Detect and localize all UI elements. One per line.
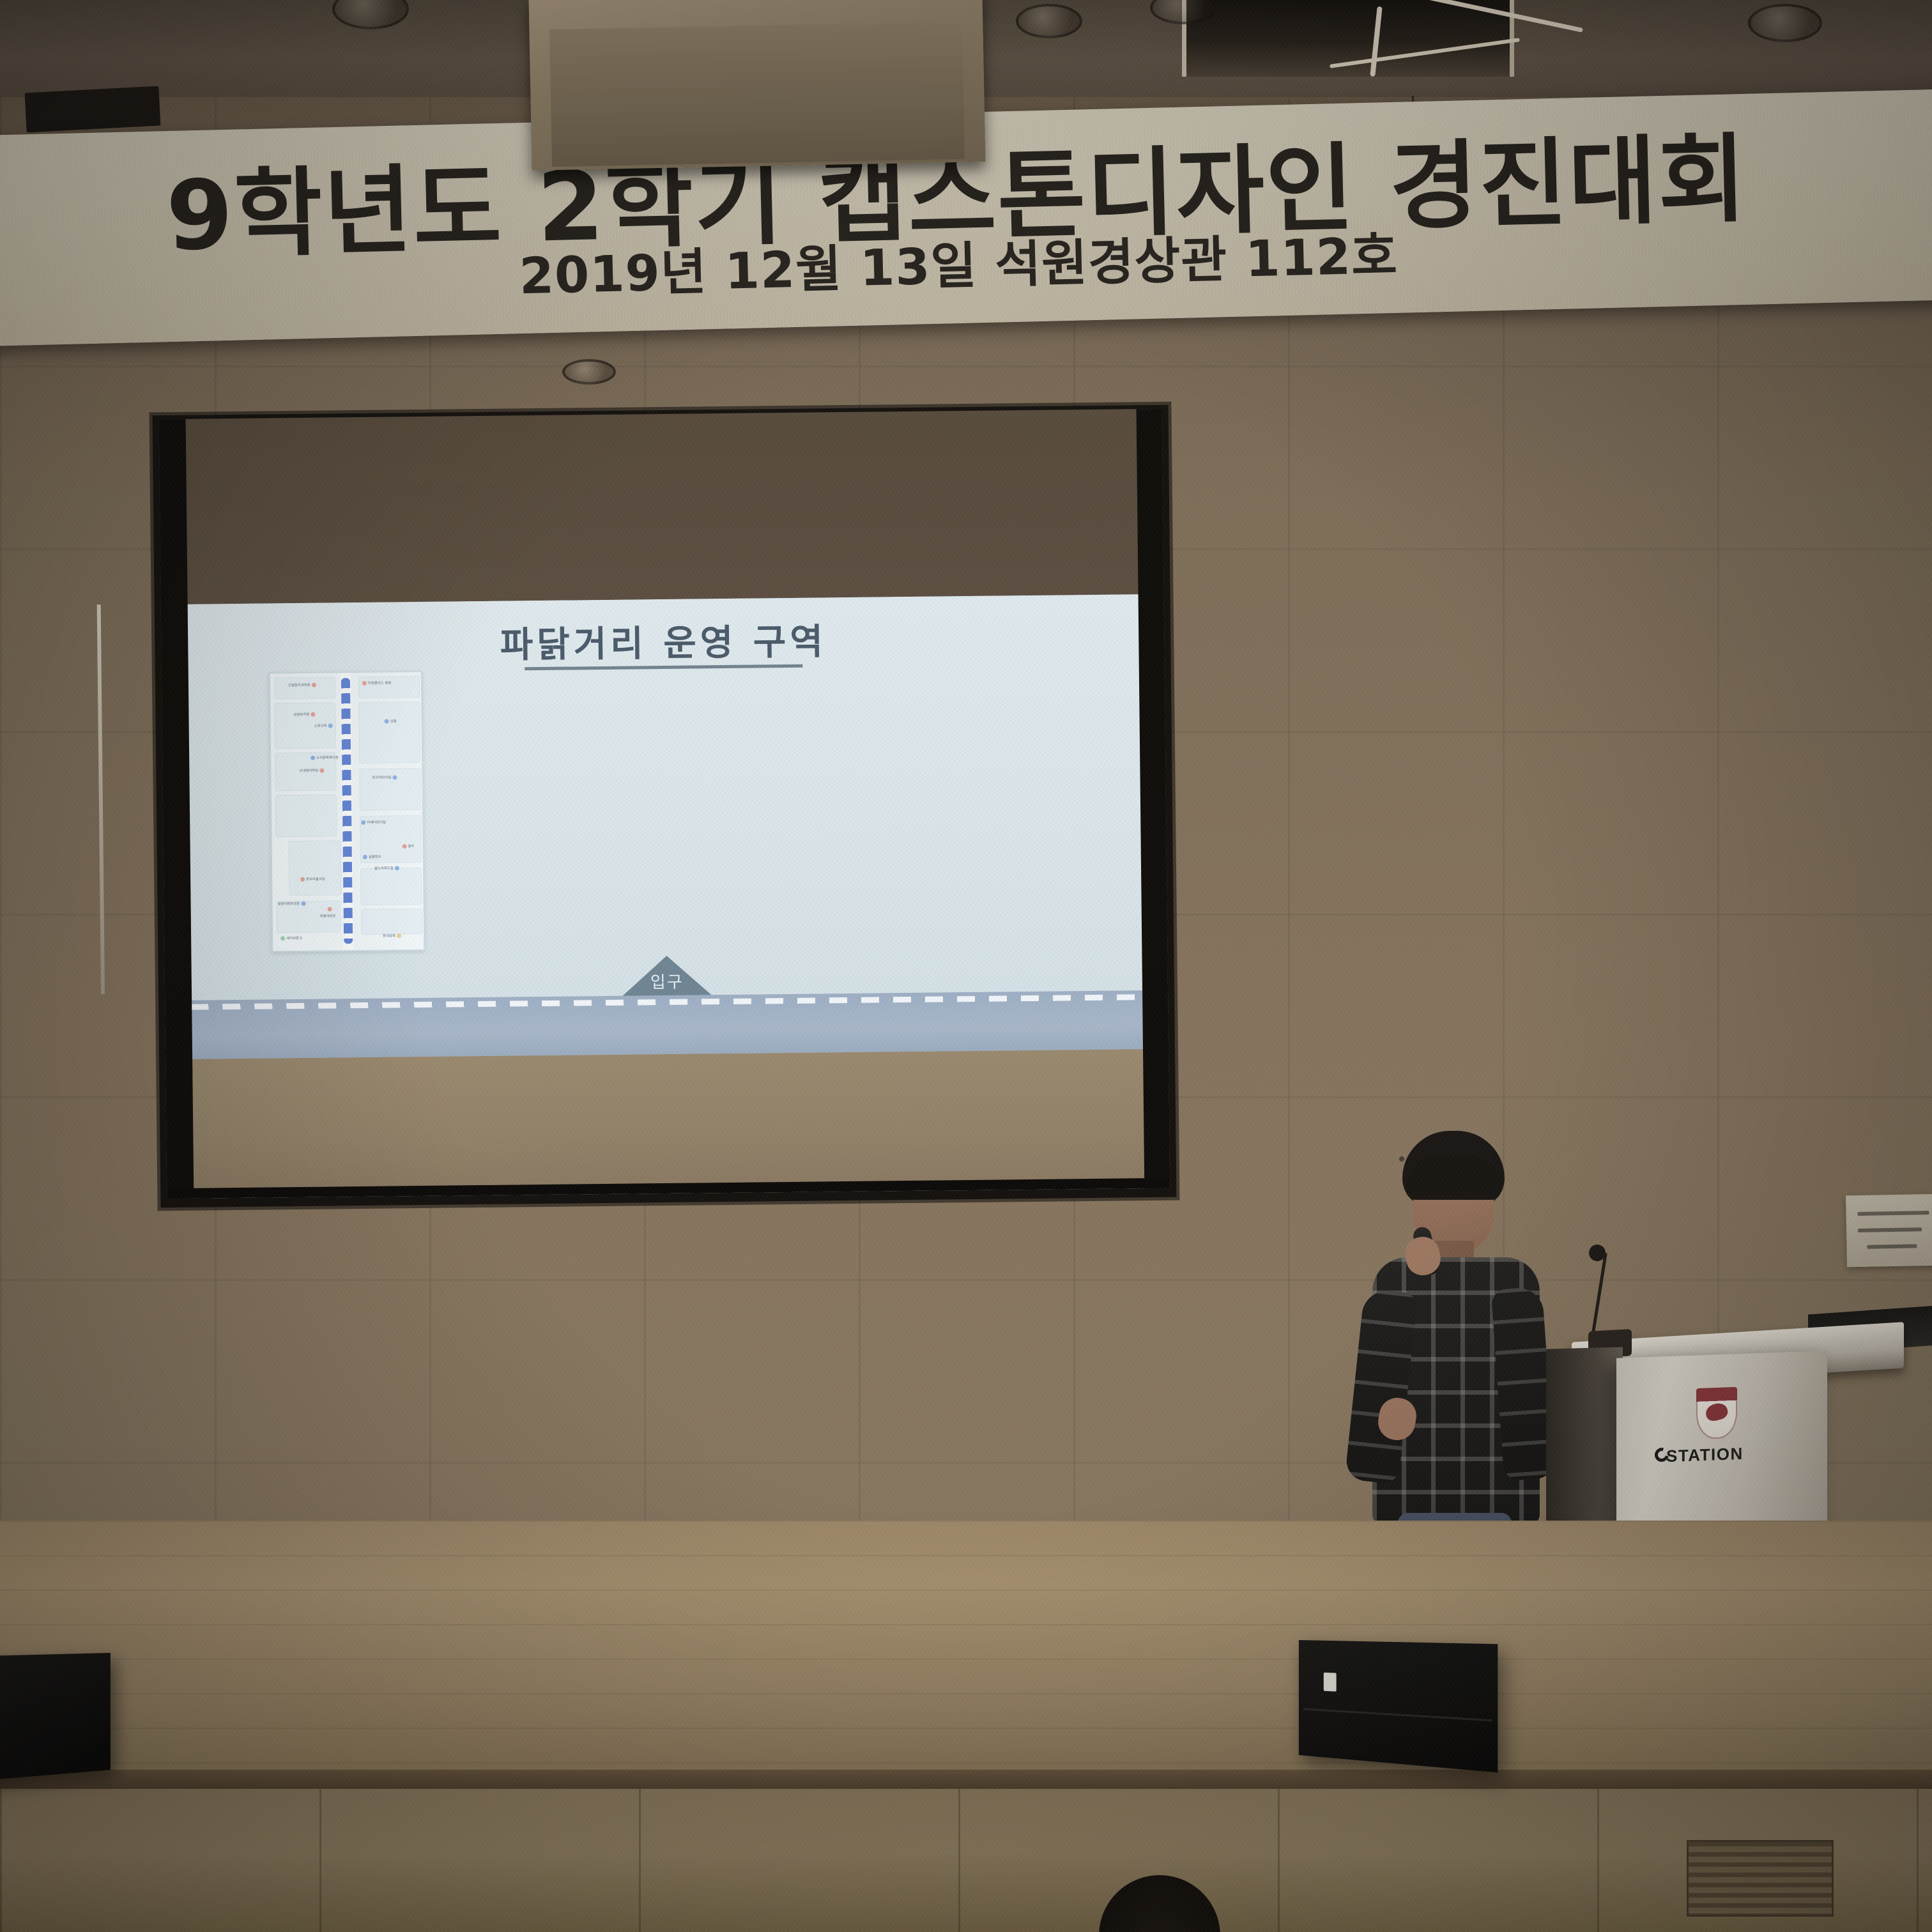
- slide-road-band: [190, 990, 1144, 1059]
- map-poi: 소망교회: [314, 723, 333, 728]
- projection-screen-surface: 파닭거리 운영 구역: [159, 409, 1170, 1199]
- slide-lower-area: [191, 1049, 1146, 1199]
- slide-map: 신동탑치과의원 삼성유치원 소망교회 누리문화복지관 신내영어학원 한우마을식당…: [269, 671, 425, 952]
- podium-mic-capsule: [1589, 1245, 1606, 1261]
- map-poi: 삼성유치원: [293, 712, 315, 717]
- crest-emblem-icon: [1705, 1402, 1729, 1423]
- map-poi: 대영아파트: [320, 913, 336, 918]
- ceiling-downlight: [1016, 4, 1082, 38]
- stage-monitor-speaker-left: [0, 1653, 111, 1782]
- map-poi: 일품한우: [363, 854, 381, 859]
- hanging-speaker: [25, 86, 161, 133]
- map-poi: 한국상회: [383, 933, 401, 938]
- map-poi: 세이브존고: [280, 935, 302, 940]
- map-poi: 누리문화복지관: [310, 755, 339, 760]
- slide-canvas: 파닭거리 운영 구역: [187, 594, 1144, 1000]
- map-poi: 성원아파트정문: [278, 901, 306, 906]
- slide-title: 파닭거리 운영 구역: [187, 609, 1140, 671]
- map-poi: 미성플러스 병원: [362, 680, 392, 685]
- stage-front-wall-seams: [0, 1789, 1932, 1932]
- map-poi: 한우마을식당: [300, 877, 325, 882]
- presenter-hair-fringe: [1406, 1155, 1501, 1200]
- ceiling-projector-housing-front: [549, 22, 965, 167]
- auditorium-photo: 9학년도 2학기 캡스톤디자인 경진대회 2019년 12월 13일 석원경상관…: [0, 0, 1932, 1932]
- map-poi: [328, 907, 332, 911]
- map-poi: 홍두: [402, 843, 415, 848]
- map-poi: 미래어린이집: [361, 820, 386, 825]
- map-poi: 민간어린이집: [372, 774, 397, 779]
- entrance-label: 입구: [650, 969, 684, 993]
- wall-air-vent: [1687, 1840, 1834, 1917]
- speaker-grille-seam: [1303, 1708, 1492, 1722]
- projected-slide: 파닭거리 운영 구역: [187, 594, 1146, 1199]
- ceiling-downlight: [1748, 4, 1822, 42]
- map-poi: 신내영어학원: [299, 768, 324, 773]
- map-poi: 월드씨푸드점: [374, 865, 399, 870]
- map-poi: 신협: [385, 718, 397, 723]
- ceiling-downlight: [562, 359, 616, 385]
- projection-screen: 파닭거리 운영 구역: [153, 405, 1177, 1208]
- map-poi: 신동탑치과의원: [288, 682, 316, 687]
- stage-monitor-speaker-right: [1299, 1640, 1498, 1772]
- wall-notice-sign: [1846, 1194, 1932, 1268]
- screen-left-border: [159, 419, 194, 1199]
- stage-front-wall: [0, 1789, 1932, 1932]
- stage-floor: [0, 1521, 1932, 1789]
- podium-logo-text: STATION: [1666, 1444, 1744, 1466]
- speaker-brand-badge: [1324, 1673, 1337, 1692]
- stage-floor-planks: [0, 1521, 1932, 1789]
